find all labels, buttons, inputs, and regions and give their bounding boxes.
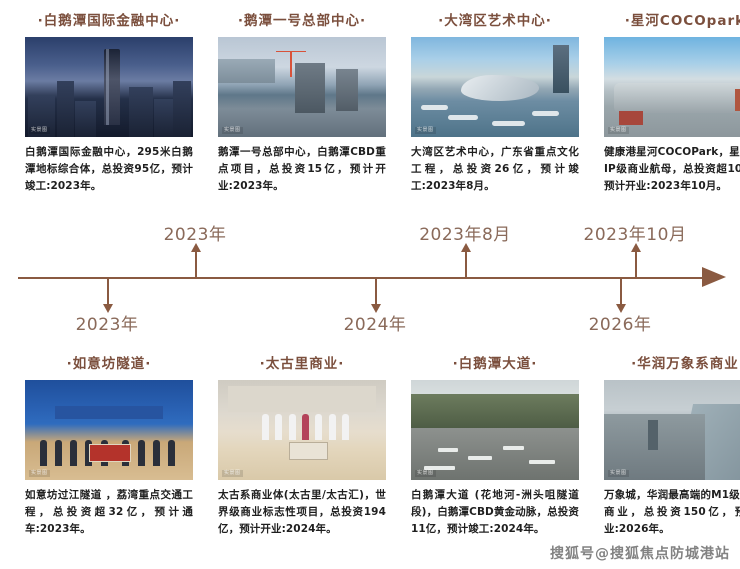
photo-scene-coco-park-mall (604, 37, 740, 137)
project-title: ·如意坊隧道· (25, 357, 193, 372)
project-card-bottom-2: ·太古里商业· 实景图 太古系商业体(太古里/太古汇)，世界级商业标志性项目，总… (218, 357, 386, 539)
project-title: ·华润万象系商业· (604, 357, 740, 372)
timeline-axis-line (18, 277, 710, 279)
bottom-project-row: ·如意坊隧道· 实景图 如意坊过江隧道 ，荔湾重点交通工程，总投资超32亿，预计… (0, 357, 740, 539)
timeline-label-above-3: 2023年10月 (584, 220, 687, 245)
photo-scene-tunnel-ceremony (25, 380, 193, 480)
project-title: ·太古里商业· (218, 357, 386, 372)
project-title: ·大湾区艺术中心· (411, 14, 579, 29)
timeline-tick-up-1 (195, 250, 197, 278)
photo-watermark: 实景图 (608, 470, 629, 477)
source-watermark: 搜狐号@搜狐焦点防城港站 (550, 543, 730, 563)
project-photo: 实景图 (25, 37, 193, 137)
project-photo: 实景图 (411, 380, 579, 480)
photo-scene-avenue-road (411, 380, 579, 480)
project-photo: 实景图 (25, 380, 193, 480)
project-description: 万象城，华润最高端的M1级别重奢商业，总投资150亿，预计开业:2026年。 (604, 487, 740, 539)
project-description: 太古系商业体(太古里/太古汇)，世界级商业标志性项目，总投资194亿，预计开业:… (218, 487, 386, 539)
project-card-bottom-3: ·白鹅潭大道· 实景图 白鹅潭大道 (花地河‑洲头咀隧道段)，白鹅潭CBD黄金动… (411, 357, 579, 539)
project-title: ·白鹅潭国际金融中心· (25, 14, 193, 29)
project-card-top-4: ·星河COCOpark· 实景图 健康港星河COCOPark，星河控股IP级商业… (604, 14, 740, 196)
timeline-tick-down-3 (620, 278, 622, 306)
timeline-label-above-1: 2023年 (164, 220, 227, 245)
photo-scene-construction-site (218, 37, 386, 137)
timeline-tick-up-3 (635, 250, 637, 278)
project-card-top-3: ·大湾区艺术中心· 实景图 大湾区艺术中心，广东省重点文化工程，总投资26亿，预… (411, 14, 579, 196)
project-title: ·鹅潭一号总部中心· (218, 14, 386, 29)
project-description: 如意坊过江隧道 ，荔湾重点交通工程，总投资超32亿，预计通车:2023年。 (25, 487, 193, 539)
timeline-label-below-2: 2024年 (344, 310, 407, 335)
photo-watermark: 实景图 (29, 127, 50, 134)
project-title: ·白鹅潭大道· (411, 357, 579, 372)
timeline-label-below-3: 2026年 (589, 310, 652, 335)
timeline-axis-group: 2023年 2023年8月 2023年10月 2023年 2024年 2026年 (0, 212, 740, 348)
top-project-row: ·白鹅潭国际金融中心· 实景图 白鹅潭国际金融中心，295米白鹅潭地标综合体，总… (0, 14, 740, 196)
timeline-tick-down-1 (107, 278, 109, 306)
project-card-top-1: ·白鹅潭国际金融中心· 实景图 白鹅潭国际金融中心，295米白鹅潭地标综合体，总… (25, 14, 193, 196)
project-photo: 实景图 (604, 380, 740, 480)
project-photo: 实景图 (411, 37, 579, 137)
photo-scene-night-skyline (25, 37, 193, 137)
photo-watermark: 实景图 (415, 470, 436, 477)
photo-watermark: 实景图 (29, 470, 50, 477)
project-description: 鹅潭一号总部中心，白鹅潭CBD重点项目，总投资15亿，预计开业:2023年。 (218, 144, 386, 196)
project-description: 健康港星河COCOPark，星河控股IP级商业航母，总投资超100亿，预计开业:… (604, 144, 740, 196)
timeline-tick-up-2 (465, 250, 467, 278)
timeline-arrow-head-icon (702, 267, 726, 287)
project-title: ·星河COCOpark· (604, 14, 740, 29)
project-card-bottom-1: ·如意坊隧道· 实景图 如意坊过江隧道 ，荔湾重点交通工程，总投资超32亿，预计… (25, 357, 193, 539)
project-description: 大湾区艺术中心，广东省重点文化工程，总投资26亿，预计竣工:2023年8月。 (411, 144, 579, 196)
project-description: 白鹅潭国际金融中心，295米白鹅潭地标综合体，总投资95亿，预计竣工:2023年… (25, 144, 193, 196)
project-photo: 实景图 (218, 380, 386, 480)
photo-scene-taikoo-ceremony (218, 380, 386, 480)
project-photo: 实景图 (604, 37, 740, 137)
photo-scene-aerial-river-city (604, 380, 740, 480)
photo-watermark: 实景图 (608, 127, 629, 134)
photo-scene-art-centre-waterfront (411, 37, 579, 137)
project-description: 白鹅潭大道 (花地河‑洲头咀隧道段)，白鹅潭CBD黄金动脉，总投资11亿，预计竣… (411, 487, 579, 539)
photo-watermark: 实景图 (222, 470, 243, 477)
photo-watermark: 实景图 (222, 127, 243, 134)
timeline-label-above-2: 2023年8月 (419, 220, 511, 245)
timeline-infographic: ·白鹅潭国际金融中心· 实景图 白鹅潭国际金融中心，295米白鹅潭地标综合体，总… (0, 0, 740, 569)
timeline-tick-down-2 (375, 278, 377, 306)
project-photo: 实景图 (218, 37, 386, 137)
project-card-bottom-4: ·华润万象系商业· 实景图 万象城，华润最高端的M1级别重奢商业，总投资150亿… (604, 357, 740, 539)
timeline-label-below-1: 2023年 (76, 310, 139, 335)
photo-watermark: 实景图 (415, 127, 436, 134)
project-card-top-2: ·鹅潭一号总部中心· 实景图 鹅潭一号总部中心，白鹅潭CBD重点项目，总投资15… (218, 14, 386, 196)
